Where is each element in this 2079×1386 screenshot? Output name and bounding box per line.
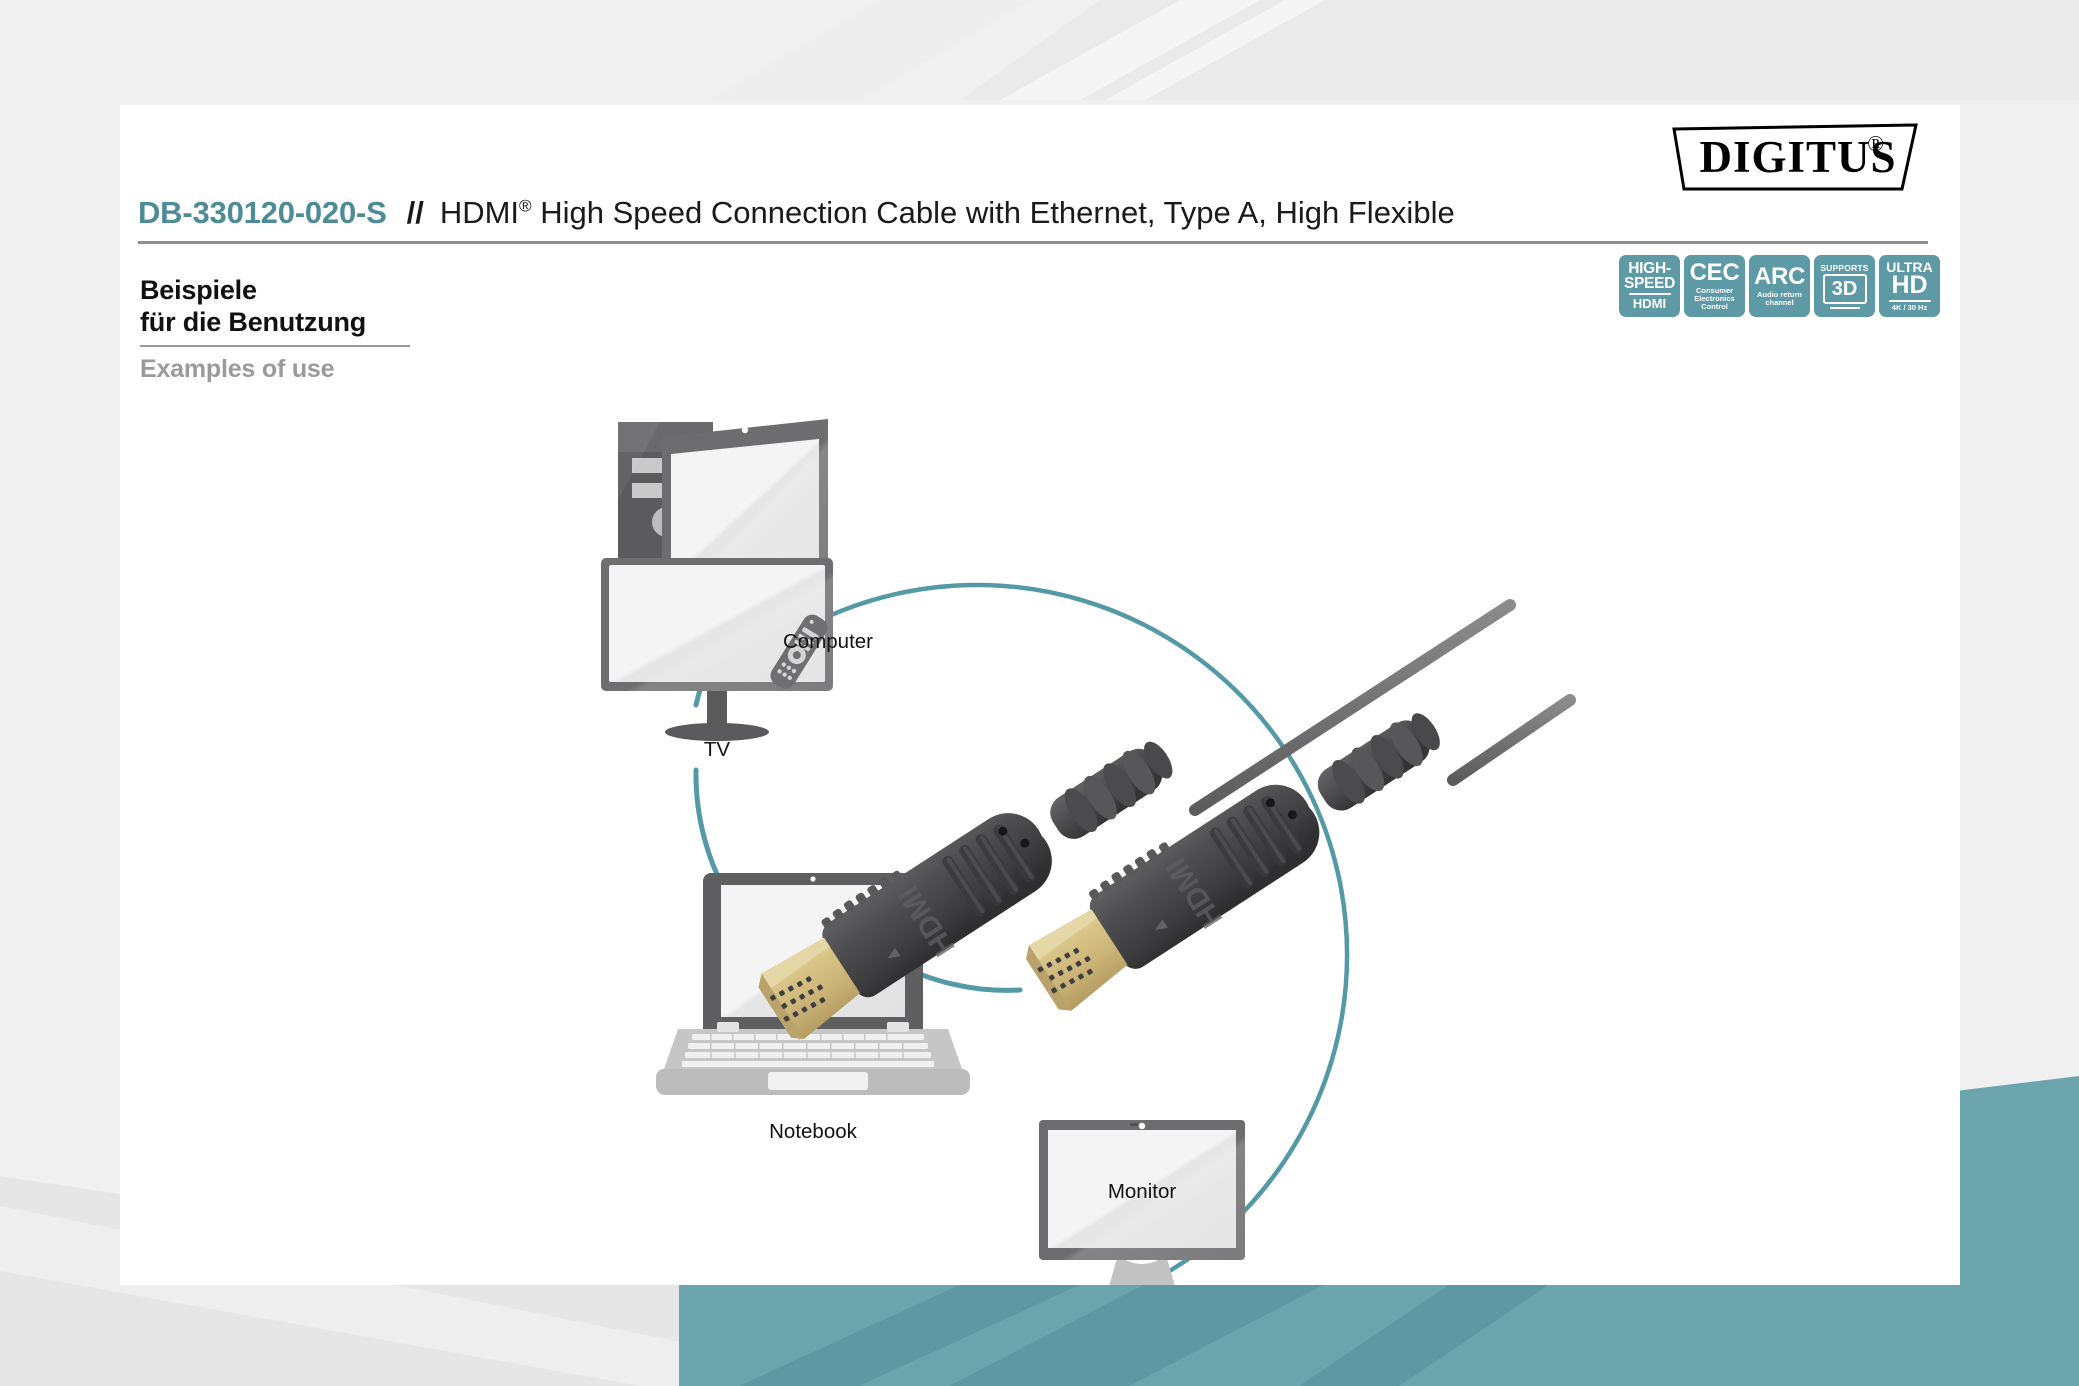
badge-high-speed-line1: HIGH- [1624, 261, 1675, 276]
title-separator: // [407, 195, 424, 231]
badge-3d-supports-label: SUPPORTS [1820, 263, 1868, 273]
hdmi-connector-right: HDMI [1013, 683, 1460, 1021]
device-label-computer: Computer [748, 630, 908, 654]
badge-high-speed-line2: SPEED [1624, 276, 1675, 291]
badge-arc-title: ARC [1754, 265, 1805, 289]
usage-diagram-svg: HDMI [120, 300, 1960, 1285]
top-diagonal-stripes-decoration [0, 0, 2079, 100]
badge-hd-label: HD [1891, 274, 1927, 298]
content-card: DIGITUS ® DB-330120-020-S // HDMI® High … [120, 105, 1960, 1285]
badge-cec-title: CEC [1690, 261, 1740, 285]
product-description-post: High Speed Connection Cable with Etherne… [532, 195, 1455, 230]
strain-relief [1042, 734, 1180, 848]
digitus-logo: DIGITUS ® [1670, 123, 1920, 193]
datasheet-page: DIGITUS ® DB-330120-020-S // HDMI® High … [0, 0, 2079, 1386]
device-label-tv: TV [647, 738, 787, 762]
hdmi-registered-icon: ® [519, 197, 532, 216]
device-label-monitor: Monitor [1062, 1180, 1222, 1204]
product-description: HDMI® High Speed Connection Cable with E… [440, 195, 1455, 231]
product-sku: DB-330120-020-S [138, 195, 387, 231]
registered-trademark-icon: ® [1867, 131, 1884, 157]
badge-divider [1629, 293, 1671, 295]
product-description-pre: HDMI [440, 195, 519, 230]
product-title-row: DB-330120-020-S // HDMI® High Speed Conn… [138, 195, 1928, 231]
title-divider [138, 241, 1928, 244]
usage-diagram: HDMI [120, 300, 1960, 1285]
device-label-notebook: Notebook [733, 1120, 893, 1144]
